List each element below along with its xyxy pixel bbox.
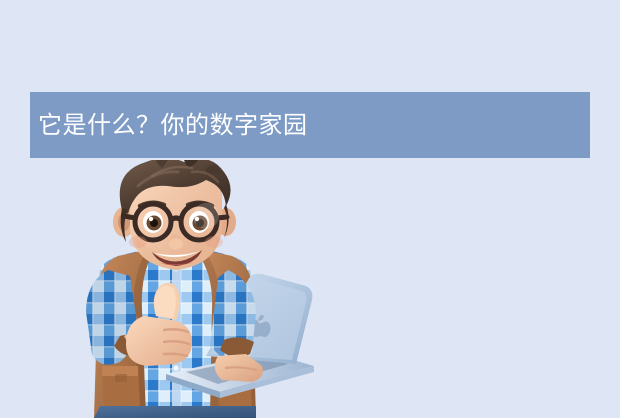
cartoon-man-with-laptop-icon [60,160,320,418]
character-illustration [60,160,320,418]
page-canvas: 它是什么？你的数字家园 [0,0,620,415]
jeans [94,406,256,418]
title-banner: 它是什么？你的数字家园 [30,92,590,158]
page-title: 它是什么？你的数字家园 [38,113,308,137]
